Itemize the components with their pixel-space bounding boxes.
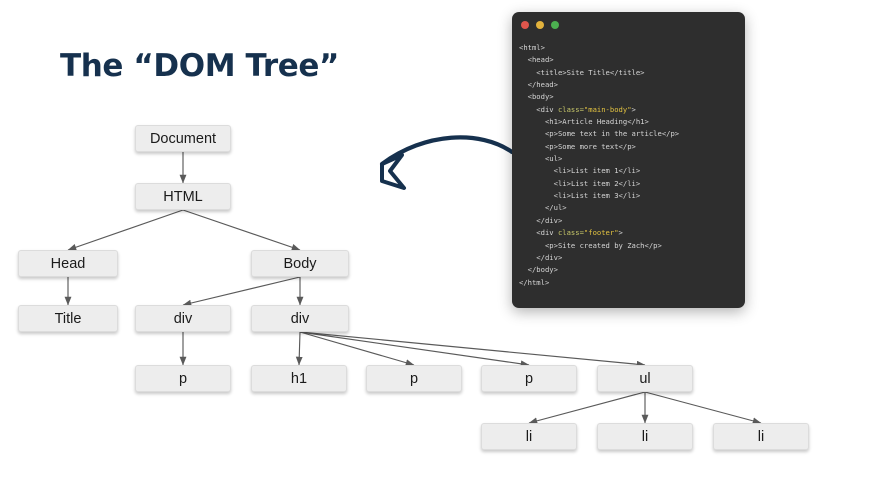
code-token-tg: <li> xyxy=(519,191,571,200)
code-token-tg: </p> xyxy=(645,241,662,250)
code-token-tg: </title> xyxy=(610,68,645,77)
tree-node-div2: div xyxy=(251,305,349,332)
tree-node-title: Title xyxy=(18,305,118,332)
tree-node-label: li xyxy=(526,429,532,445)
tree-node-label: li xyxy=(642,429,648,445)
tree-node-li3: li xyxy=(713,423,809,450)
code-token-tg: <p> xyxy=(519,142,558,151)
code-line-7: <h1>Article Heading</h1> xyxy=(519,116,745,128)
tree-edge-body-to-div1 xyxy=(183,277,300,305)
code-token-tg: </li> xyxy=(619,166,641,175)
code-line-14: </ul> xyxy=(519,202,745,214)
code-line-12: <li>List item 2</li> xyxy=(519,178,745,190)
code-token-tg: </p> xyxy=(662,129,679,138)
dom-tree-diagram: DocumentHTMLHeadBodyTitledivdivph1ppulli… xyxy=(0,0,880,495)
code-token-tg: <div xyxy=(519,228,558,237)
code-token-tg: </head> xyxy=(519,80,558,89)
tree-edge-div2-to-p3 xyxy=(300,332,529,365)
code-line-19: </body> xyxy=(519,264,745,276)
code-token-at: class= xyxy=(558,105,584,114)
tree-node-label: li xyxy=(758,429,764,445)
tree-node-label: Document xyxy=(150,131,216,147)
code-token-tg: </li> xyxy=(619,191,641,200)
tree-node-label: HTML xyxy=(163,189,202,205)
tree-node-label: Title xyxy=(55,311,82,327)
slide-canvas: The “DOM Tree” DocumentHTMLHeadBodyTitle… xyxy=(0,0,880,495)
code-line-11: <li>List item 1</li> xyxy=(519,165,745,177)
maximize-button[interactable] xyxy=(551,21,559,29)
code-line-2: <head> xyxy=(519,54,745,66)
code-line-1: <html> xyxy=(519,42,745,54)
tree-node-li2: li xyxy=(597,423,693,450)
code-token-av: "main-body" xyxy=(584,105,632,114)
code-token-txt: List item 2 xyxy=(571,179,619,188)
tree-node-ul: ul xyxy=(597,365,693,392)
tree-node-head: Head xyxy=(18,250,118,277)
tree-node-p1: p xyxy=(135,365,231,392)
tree-edge-html-to-body xyxy=(183,210,300,250)
code-line-10: <ul> xyxy=(519,153,745,165)
code-token-txt: Article Heading xyxy=(562,117,627,126)
code-token-tg: > xyxy=(619,228,623,237)
tree-node-label: Head xyxy=(51,256,86,272)
code-token-tg: <p> xyxy=(519,241,558,250)
code-token-tg: <ul> xyxy=(519,154,562,163)
code-token-tg: </h1> xyxy=(627,117,649,126)
tree-edge-ul-to-li3 xyxy=(645,392,761,423)
code-line-3: <title>Site Title</title> xyxy=(519,67,745,79)
code-line-20: </html> xyxy=(519,277,745,289)
tree-edge-div2-to-ul xyxy=(300,332,645,365)
tree-node-label: h1 xyxy=(291,371,307,387)
code-token-tg: <li> xyxy=(519,179,571,188)
code-token-tg: <p> xyxy=(519,129,558,138)
code-line-9: <p>Some more text</p> xyxy=(519,141,745,153)
code-token-txt: Some text in the article xyxy=(558,129,662,138)
tree-node-li1: li xyxy=(481,423,577,450)
code-token-tg: </html> xyxy=(519,278,549,287)
code-line-8: <p>Some text in the article</p> xyxy=(519,128,745,140)
code-token-txt: Site Title xyxy=(567,68,610,77)
code-window-titlebar[interactable] xyxy=(512,12,745,38)
code-token-txt: List item 3 xyxy=(571,191,619,200)
code-token-tg: </div> xyxy=(519,216,562,225)
tree-node-p2: p xyxy=(366,365,462,392)
code-token-tg: <li> xyxy=(519,166,571,175)
tree-edges xyxy=(0,0,880,495)
tree-edge-ul-to-li1 xyxy=(529,392,645,423)
tree-node-document: Document xyxy=(135,125,231,152)
tree-node-div1: div xyxy=(135,305,231,332)
code-window[interactable]: <html> <head> <title>Site Title</title> … xyxy=(512,12,745,308)
tree-node-label: p xyxy=(525,371,533,387)
code-line-17: <p>Site created by Zach</p> xyxy=(519,240,745,252)
code-content: <html> <head> <title>Site Title</title> … xyxy=(512,38,745,289)
code-line-16: <div class="footer"> xyxy=(519,227,745,239)
tree-node-label: Body xyxy=(283,256,316,272)
tree-edge-html-to-head xyxy=(68,210,183,250)
code-token-tg: </li> xyxy=(619,179,641,188)
tree-node-label: p xyxy=(179,371,187,387)
tree-node-label: p xyxy=(410,371,418,387)
code-token-tg: <title> xyxy=(519,68,567,77)
code-line-4: </head> xyxy=(519,79,745,91)
tree-node-html: HTML xyxy=(135,183,231,210)
minimize-button[interactable] xyxy=(536,21,544,29)
code-token-at: class= xyxy=(558,228,584,237)
tree-node-label: div xyxy=(174,311,193,327)
code-token-txt: List item 1 xyxy=(571,166,619,175)
code-line-6: <div class="main-body"> xyxy=(519,104,745,116)
tree-edge-div2-to-p2 xyxy=(300,332,414,365)
code-token-tg: > xyxy=(632,105,636,114)
tree-edge-div2-to-h1 xyxy=(299,332,300,365)
code-token-tg: <h1> xyxy=(519,117,562,126)
code-line-15: </div> xyxy=(519,215,745,227)
code-token-tg: <div xyxy=(519,105,558,114)
tree-node-label: div xyxy=(291,311,310,327)
tree-node-h1: h1 xyxy=(251,365,347,392)
code-token-tg: </div> xyxy=(519,253,562,262)
tree-node-body: Body xyxy=(251,250,349,277)
tree-node-p3: p xyxy=(481,365,577,392)
code-token-tg: <body> xyxy=(519,92,554,101)
code-line-5: <body> xyxy=(519,91,745,103)
code-token-av: "footer" xyxy=(584,228,619,237)
code-token-txt: Some more text xyxy=(558,142,619,151)
code-token-tg: <head> xyxy=(519,55,554,64)
close-button[interactable] xyxy=(521,21,529,29)
code-token-tg: </ul> xyxy=(519,203,567,212)
code-token-txt: Site created by Zach xyxy=(558,241,645,250)
code-token-tg: <html> xyxy=(519,43,545,52)
code-line-18: </div> xyxy=(519,252,745,264)
code-line-13: <li>List item 3</li> xyxy=(519,190,745,202)
tree-node-label: ul xyxy=(639,371,650,387)
code-token-tg: </p> xyxy=(619,142,636,151)
code-token-tg: </body> xyxy=(519,265,558,274)
curved-arrow-icon xyxy=(330,122,525,217)
